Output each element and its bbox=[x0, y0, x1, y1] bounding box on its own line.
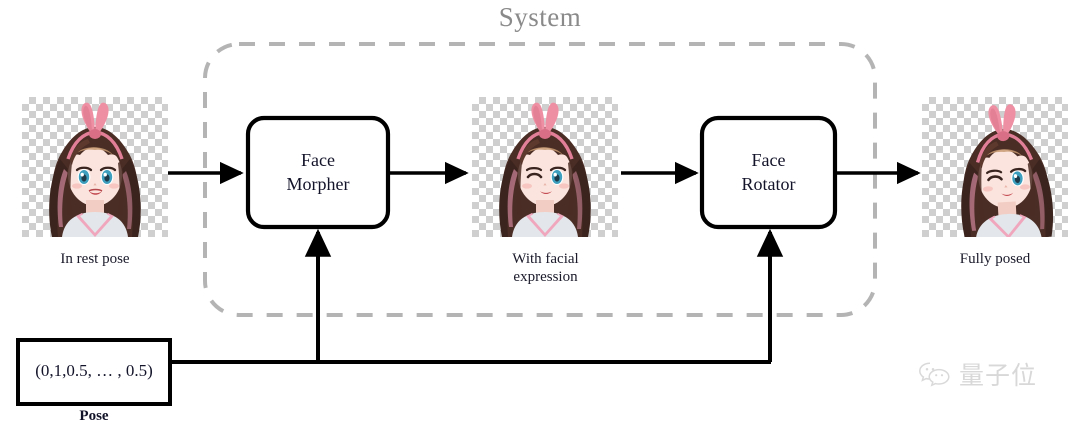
face-morpher-label: Face Morpher bbox=[248, 148, 388, 196]
thumbnail-fully-posed bbox=[922, 97, 1068, 237]
character-art-rest-pose bbox=[22, 97, 168, 237]
face-morpher-label-line-2: Morpher bbox=[248, 172, 388, 196]
caption-line-1: In rest pose bbox=[5, 250, 185, 268]
face-rotator-label: Face Rotator bbox=[702, 148, 835, 196]
caption-line-2: expression bbox=[463, 268, 628, 286]
caption-with-facial-expression: With facial expression bbox=[463, 250, 628, 286]
pose-vector-value: (0,1,0.5, … , 0.5) bbox=[18, 361, 170, 381]
caption-in-rest-pose: In rest pose bbox=[5, 250, 185, 268]
diagram-canvas: System bbox=[0, 0, 1080, 434]
wechat-icon bbox=[918, 360, 952, 388]
caption-fully-posed: Fully posed bbox=[905, 250, 1080, 268]
character-art-fully-posed bbox=[922, 97, 1068, 237]
thumbnail-in-rest-pose bbox=[22, 97, 168, 237]
face-morpher-label-line-1: Face bbox=[248, 148, 388, 172]
face-rotator-label-line-1: Face bbox=[702, 148, 835, 172]
character-art-facial-expression bbox=[472, 97, 618, 237]
caption-line-1: With facial bbox=[463, 250, 628, 268]
face-rotator-label-line-2: Rotator bbox=[702, 172, 835, 196]
thumbnail-with-facial-expression bbox=[472, 97, 618, 237]
caption-line-1: Fully posed bbox=[905, 250, 1080, 268]
pose-caption: Pose bbox=[18, 408, 170, 425]
system-title: System bbox=[440, 2, 640, 33]
watermark: 量子位 bbox=[918, 356, 1037, 392]
watermark-text: 量子位 bbox=[959, 356, 1037, 392]
